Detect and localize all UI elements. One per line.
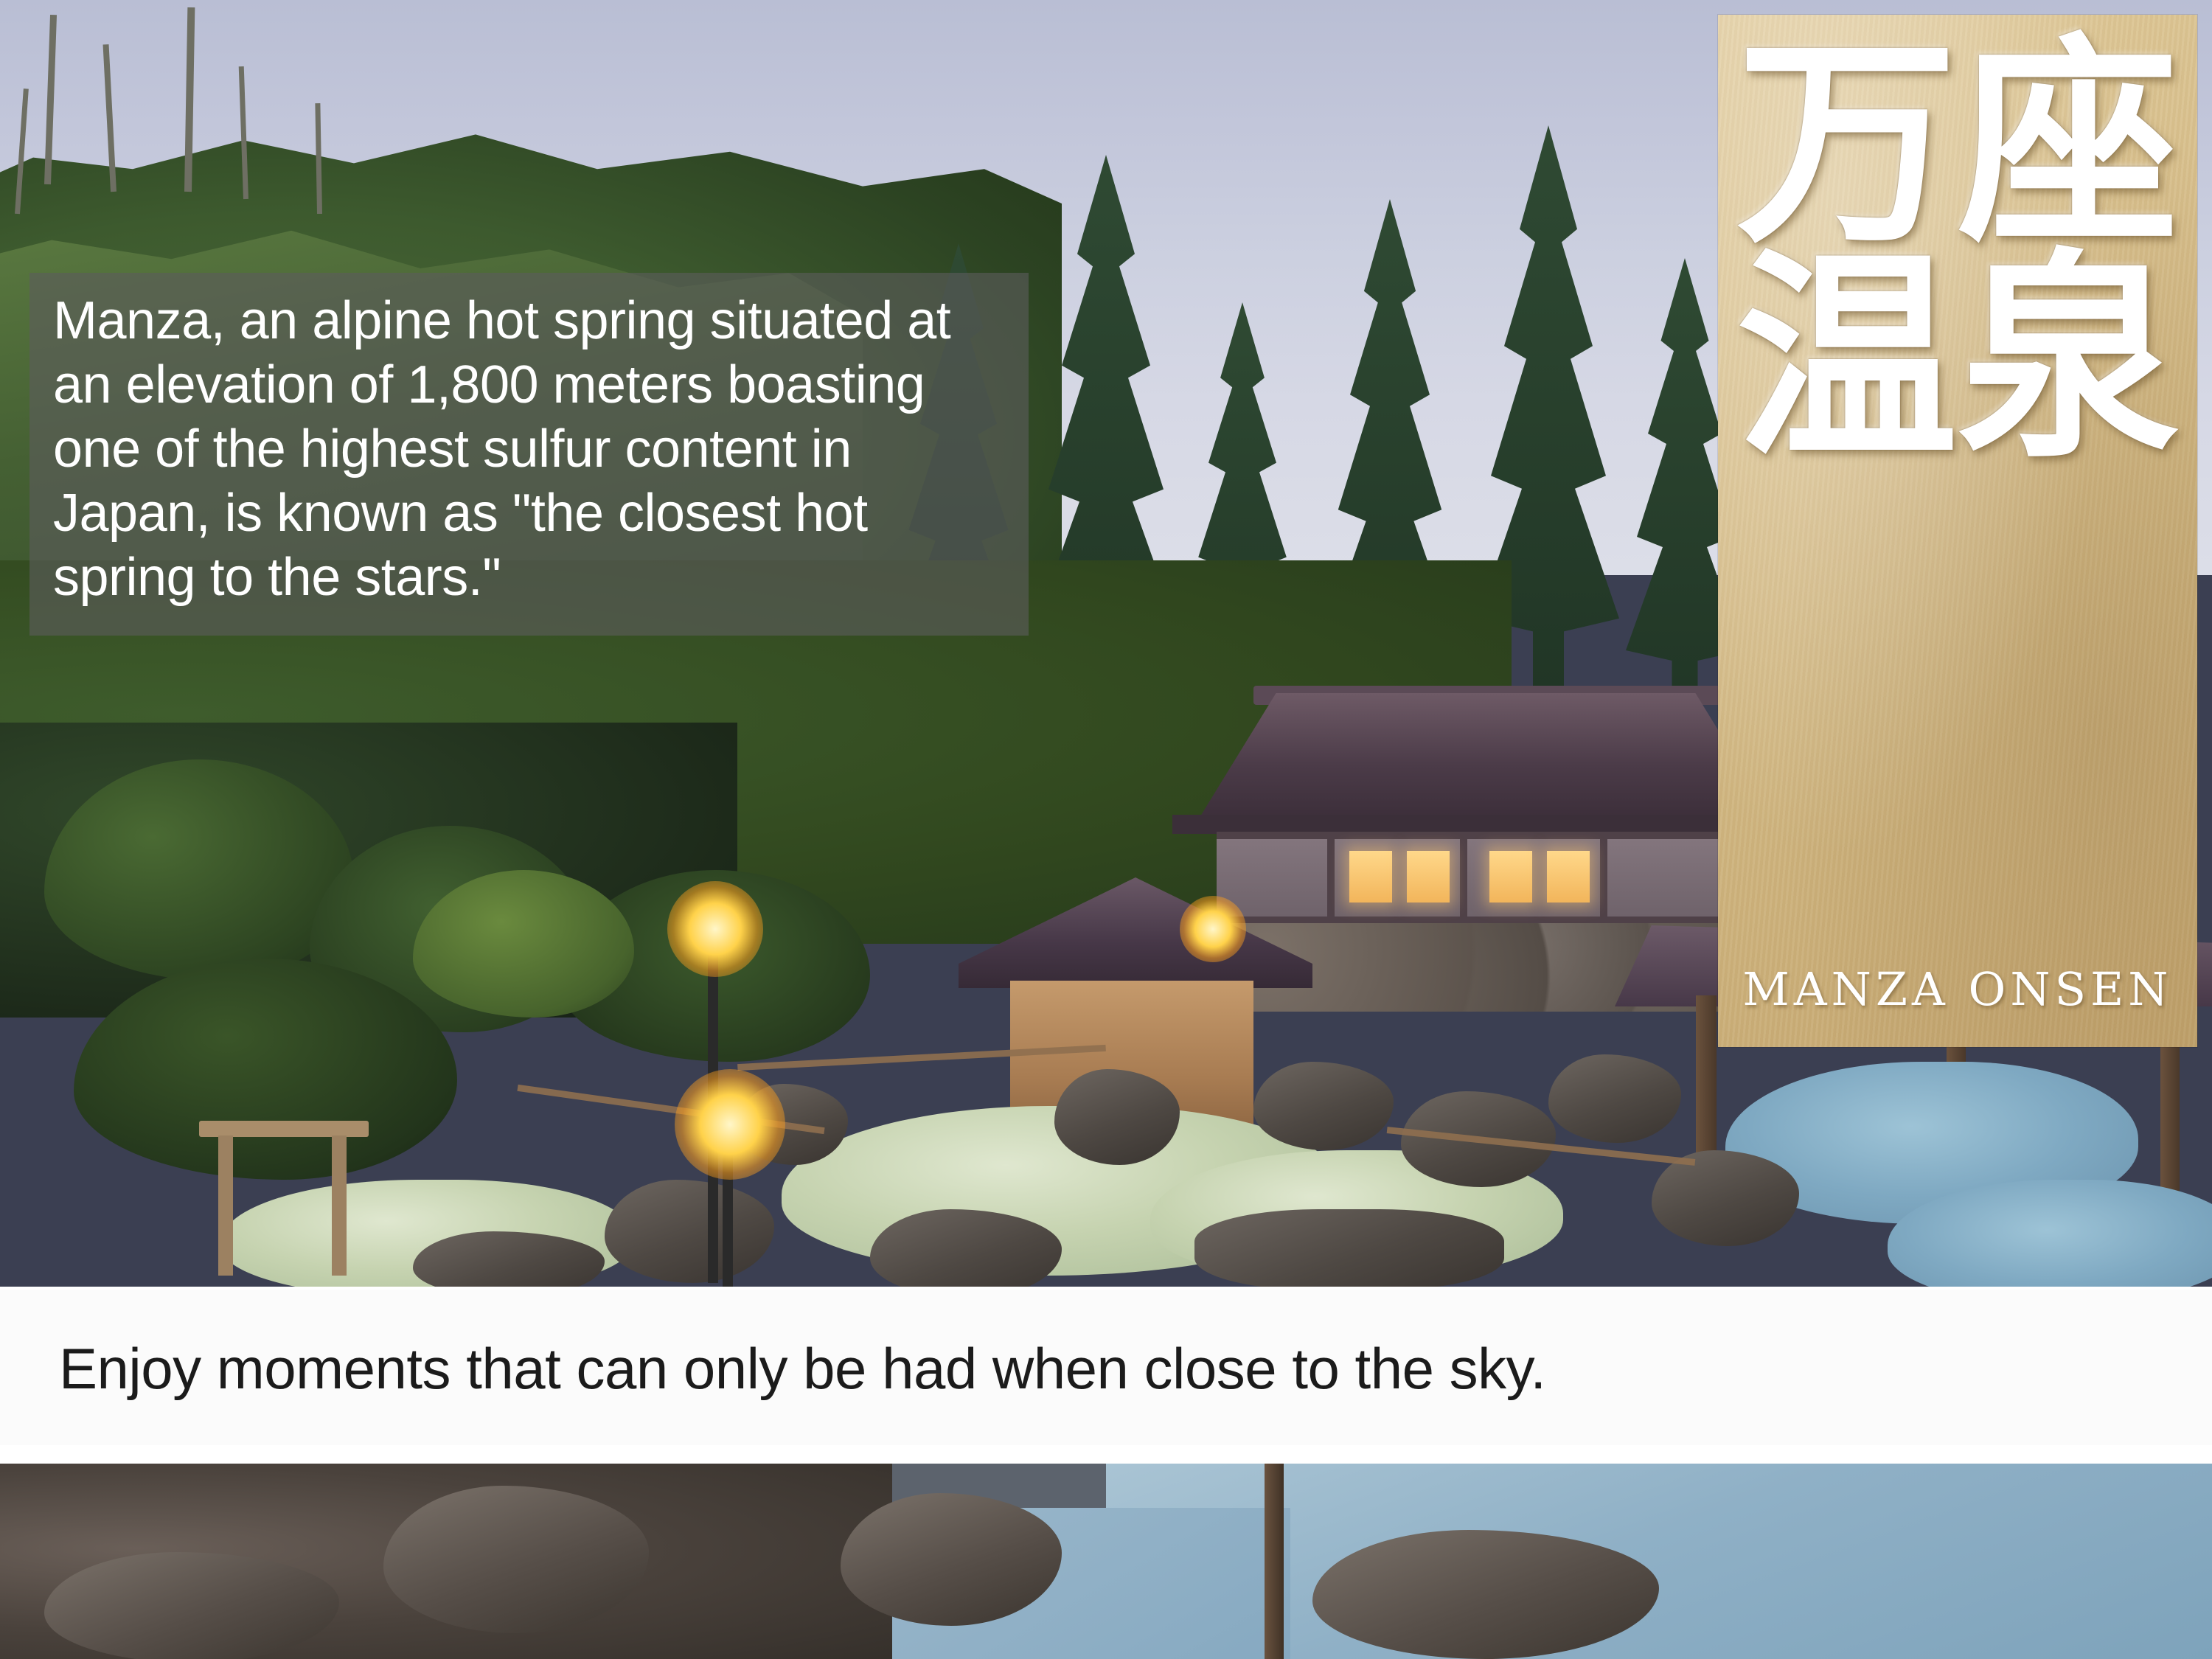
building-wall xyxy=(1217,832,1762,924)
banner-kanji-text: 万座 温泉 xyxy=(1718,35,2197,465)
wall-beam xyxy=(1217,832,1762,839)
lamp-glow xyxy=(1180,896,1246,962)
wooden-frame-beam xyxy=(199,1121,369,1137)
wooden-frame-leg xyxy=(332,1135,347,1276)
rock xyxy=(1652,1150,1799,1246)
tagline-text: Enjoy moments that can only be had when … xyxy=(59,1335,1546,1402)
bottom-photo xyxy=(0,1464,2212,1659)
manza-onsen-banner: 万座 温泉 MANZA ONSEN xyxy=(1718,15,2197,1047)
wooden-frame-leg xyxy=(218,1135,233,1276)
main-roof xyxy=(1194,693,1777,826)
caption-overlay: Manza, an alpine hot spring situated at … xyxy=(29,273,1029,636)
main-photo: Manza, an alpine hot spring situated at … xyxy=(0,0,2212,1287)
banner-romaji-text: MANZA ONSEN xyxy=(1718,962,2197,1016)
lit-window xyxy=(1407,851,1450,902)
strip-seam xyxy=(0,1445,2212,1464)
rock xyxy=(1253,1062,1394,1150)
lamp-glow xyxy=(675,1069,785,1180)
lamp-glow xyxy=(667,881,763,977)
wall-beam xyxy=(1327,832,1335,924)
rock xyxy=(605,1180,774,1283)
wall-beam xyxy=(1600,832,1607,924)
wooden-frame xyxy=(199,1121,369,1276)
rock xyxy=(44,1552,339,1659)
rock xyxy=(1194,1209,1504,1287)
lit-window xyxy=(1349,851,1392,902)
slide-canvas: Manza, an alpine hot spring situated at … xyxy=(0,0,2212,1659)
wall-beam xyxy=(1460,832,1467,924)
caption-text: Manza, an alpine hot spring situated at … xyxy=(53,289,1006,611)
tagline-strip: Enjoy moments that can only be had when … xyxy=(0,1287,2212,1448)
lit-window xyxy=(1489,851,1532,902)
rock xyxy=(1548,1054,1681,1143)
wooden-post xyxy=(1265,1464,1284,1659)
lit-window xyxy=(1547,851,1590,902)
